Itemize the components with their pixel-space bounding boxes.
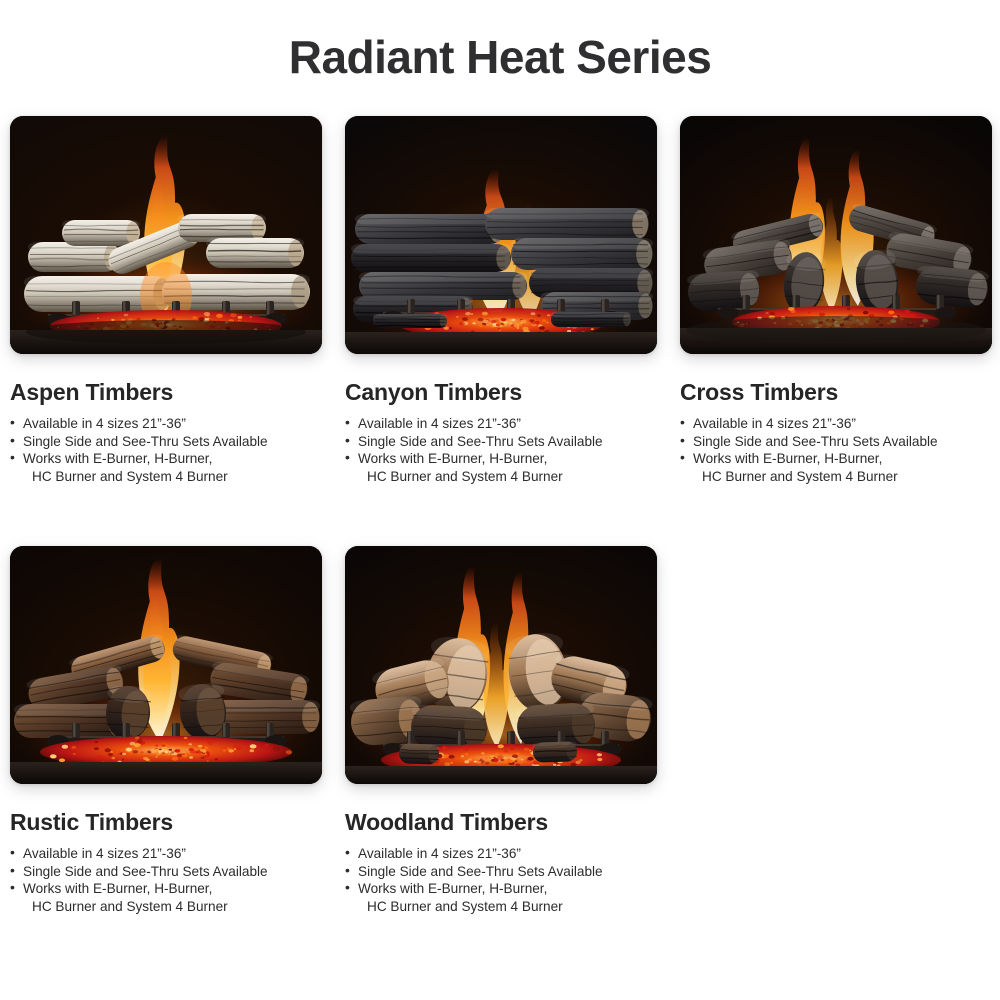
product-card-grid: Aspen Timbers Available in 4 sizes 21”-3… xyxy=(10,116,1000,976)
product-title: Cross Timbers xyxy=(680,380,978,405)
feature-bullet: Works with E-Burner, H-Burner,HC Burner … xyxy=(345,450,658,485)
product-card-woodland-timbers[interactable]: Woodland Timbers Available in 4 sizes 21… xyxy=(345,546,680,976)
feature-bullet: Single Side and See-Thru Sets Available xyxy=(680,433,978,451)
feature-bullet: Single Side and See-Thru Sets Available xyxy=(10,433,323,451)
feature-bullet: Single Side and See-Thru Sets Available xyxy=(345,433,658,451)
feature-bullet-text: Single Side and See-Thru Sets Available xyxy=(693,434,938,449)
feature-bullet-text: Single Side and See-Thru Sets Available xyxy=(358,434,603,449)
feature-bullet-text: Single Side and See-Thru Sets Available xyxy=(23,864,268,879)
product-photo-canyon-timbers xyxy=(345,116,657,354)
feature-bullet: Works with E-Burner, H-Burner,HC Burner … xyxy=(680,450,978,485)
feature-bullet: Available in 4 sizes 21”-36” xyxy=(10,415,323,433)
feature-bullet-text: Works with E-Burner, H-Burner, xyxy=(358,881,547,896)
product-feature-list: Available in 4 sizes 21”-36”Single Side … xyxy=(345,415,658,485)
feature-bullet-text: Available in 4 sizes 21”-36” xyxy=(358,846,521,861)
feature-bullet-text: Works with E-Burner, H-Burner, xyxy=(358,451,547,466)
product-title: Woodland Timbers xyxy=(345,810,658,835)
feature-bullet: Available in 4 sizes 21”-36” xyxy=(10,845,323,863)
product-card-canyon-timbers[interactable]: Canyon Timbers Available in 4 sizes 21”-… xyxy=(345,116,680,546)
feature-bullet: Single Side and See-Thru Sets Available xyxy=(10,863,323,881)
feature-bullet-subtext: HC Burner and System 4 Burner xyxy=(23,898,323,916)
feature-bullet-text: Single Side and See-Thru Sets Available xyxy=(23,434,268,449)
feature-bullet-subtext: HC Burner and System 4 Burner xyxy=(23,468,323,486)
product-card-aspen-timbers[interactable]: Aspen Timbers Available in 4 sizes 21”-3… xyxy=(10,116,345,546)
product-photo-rustic-timbers xyxy=(10,546,322,784)
product-card-rustic-timbers[interactable]: Rustic Timbers Available in 4 sizes 21”-… xyxy=(10,546,345,976)
feature-bullet: Works with E-Burner, H-Burner,HC Burner … xyxy=(10,450,323,485)
product-photo-aspen-timbers xyxy=(10,116,322,354)
product-feature-list: Available in 4 sizes 21”-36”Single Side … xyxy=(10,415,323,485)
product-title: Rustic Timbers xyxy=(10,810,323,835)
feature-bullet-text: Available in 4 sizes 21”-36” xyxy=(23,416,186,431)
product-feature-list: Available in 4 sizes 21”-36”Single Side … xyxy=(680,415,978,485)
product-title: Aspen Timbers xyxy=(10,380,323,405)
product-card-cross-timbers[interactable]: Cross Timbers Available in 4 sizes 21”-3… xyxy=(680,116,1000,546)
feature-bullet-text: Single Side and See-Thru Sets Available xyxy=(358,864,603,879)
feature-bullet: Works with E-Burner, H-Burner,HC Burner … xyxy=(10,880,323,915)
feature-bullet-text: Works with E-Burner, H-Burner, xyxy=(23,451,212,466)
feature-bullet: Works with E-Burner, H-Burner,HC Burner … xyxy=(345,880,658,915)
feature-bullet: Available in 4 sizes 21”-36” xyxy=(680,415,978,433)
feature-bullet: Available in 4 sizes 21”-36” xyxy=(345,845,658,863)
product-photo-woodland-timbers xyxy=(345,546,657,784)
feature-bullet-subtext: HC Burner and System 4 Burner xyxy=(358,898,658,916)
product-feature-list: Available in 4 sizes 21”-36”Single Side … xyxy=(10,845,323,915)
feature-bullet: Single Side and See-Thru Sets Available xyxy=(345,863,658,881)
feature-bullet-text: Works with E-Burner, H-Burner, xyxy=(23,881,212,896)
product-feature-list: Available in 4 sizes 21”-36”Single Side … xyxy=(345,845,658,915)
feature-bullet: Available in 4 sizes 21”-36” xyxy=(345,415,658,433)
feature-bullet-text: Works with E-Burner, H-Burner, xyxy=(693,451,882,466)
feature-bullet-subtext: HC Burner and System 4 Burner xyxy=(358,468,658,486)
product-title: Canyon Timbers xyxy=(345,380,658,405)
page-title: Radiant Heat Series xyxy=(0,30,1000,84)
feature-bullet-text: Available in 4 sizes 21”-36” xyxy=(358,416,521,431)
product-photo-cross-timbers xyxy=(680,116,992,354)
radiant-heat-series-page: Radiant Heat Series xyxy=(0,0,1000,1000)
feature-bullet-text: Available in 4 sizes 21”-36” xyxy=(693,416,856,431)
feature-bullet-text: Available in 4 sizes 21”-36” xyxy=(23,846,186,861)
feature-bullet-subtext: HC Burner and System 4 Burner xyxy=(693,468,978,486)
